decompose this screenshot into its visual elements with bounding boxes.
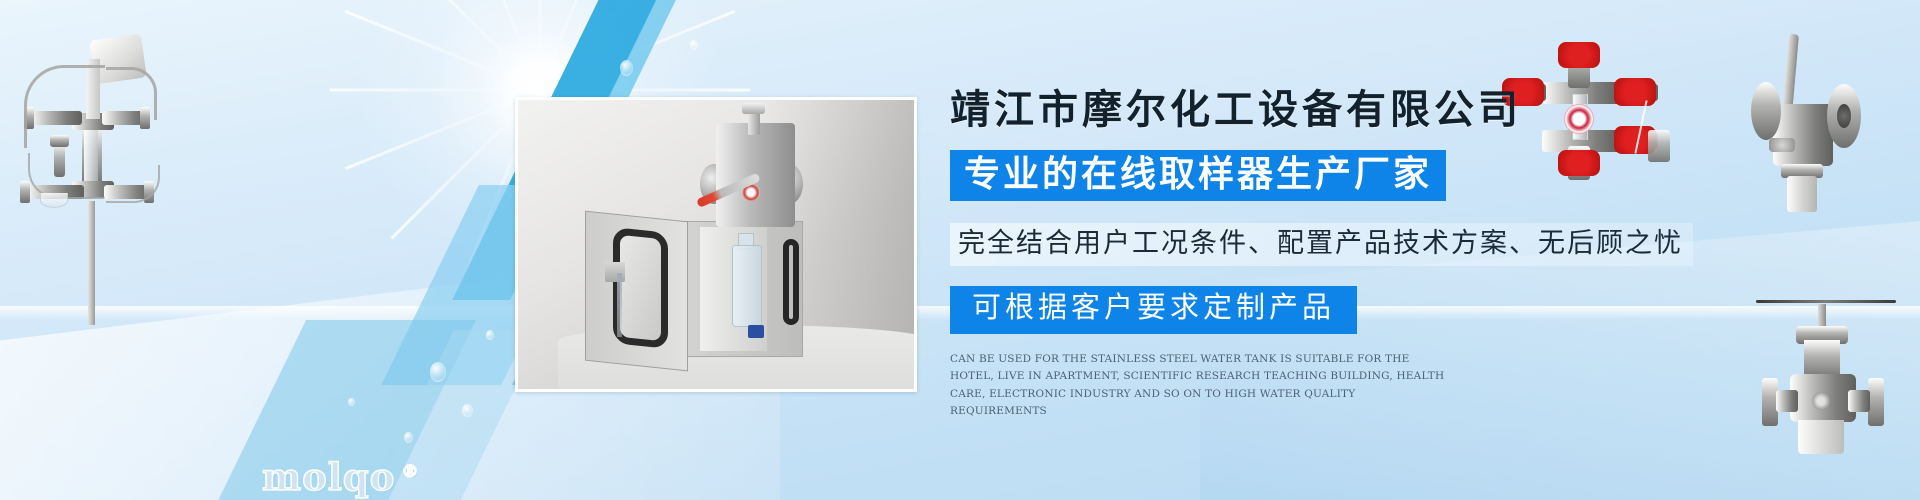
water-droplet [690,40,698,50]
banner-text-block: 靖江市摩尔化工设备有限公司 专业的在线取样器生产厂家 完全结合用户工况条件、配置… [950,88,1570,420]
custom-product-badge: 可根据客户要求定制产品 [950,286,1357,334]
bottom-right-equipment-illustration [1748,278,1920,463]
water-droplet [620,60,633,76]
company-name: 靖江市摩尔化工设备有限公司 [950,88,1570,132]
secondary-tagline-row: 完全结合用户工况条件、配置产品技术方案、无后顾之忧 [950,201,1570,266]
red-handwheel [1614,78,1656,106]
water-droplet [430,362,446,382]
watermark-text: molqo [262,455,395,499]
water-droplet [462,404,473,417]
primary-tagline-badge: 专业的在线取样器生产厂家 [950,150,1446,201]
brand-watermark: molqo® [262,455,419,499]
left-equipment-illustration [10,25,190,325]
custom-badge-row: 可根据客户要求定制产品 [950,286,1570,334]
primary-tagline-row: 专业的在线取样器生产厂家 [950,150,1570,201]
product-photo [515,97,917,392]
english-caption: CAN BE USED FOR THE STAINLESS STEEL WATE… [950,351,1455,420]
secondary-tagline: 完全结合用户工况条件、配置产品技术方案、无后顾之忧 [950,223,1693,266]
registered-trademark-icon: ® [401,462,419,482]
promotional-banner: 靖江市摩尔化工设备有限公司 专业的在线取样器生产厂家 完全结合用户工况条件、配置… [0,0,1920,500]
right-equipment-illustration [1715,22,1915,237]
water-droplet [486,330,494,340]
water-droplet [348,398,355,406]
water-droplet [404,432,413,443]
brand-emblem [1812,392,1830,410]
red-handwheel [1558,42,1600,68]
